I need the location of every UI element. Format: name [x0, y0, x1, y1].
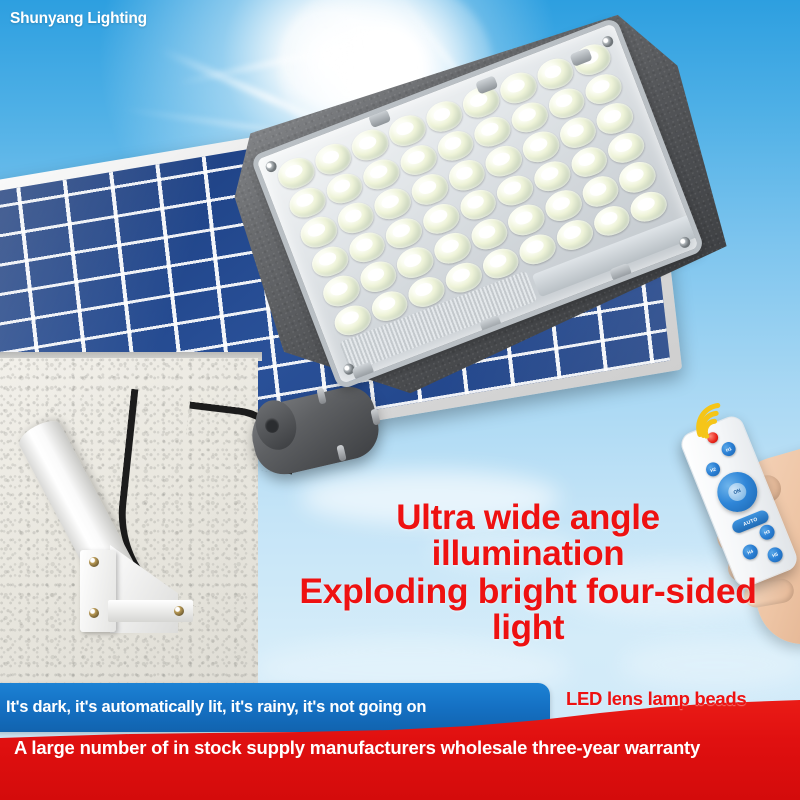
led-lens-lamp-beads-label: LED lens lamp beads [566, 688, 800, 710]
product-banner-image: H1 H2 ON AUTO H3 H4 H5 Ultra wide angle … [0, 0, 800, 800]
headline-line-2: illumination [228, 536, 800, 572]
bolt-icon [89, 557, 99, 567]
brand-watermark: Shunyang Lighting [10, 10, 147, 28]
headline-line-4: light [228, 610, 800, 646]
cloud [620, 640, 800, 690]
remote-button-h2[interactable]: H2 [704, 460, 722, 478]
headline-block: Ultra wide angle illumination Exploding … [228, 500, 800, 646]
warranty-banner-text: A large number of in stock supply manufa… [14, 736, 786, 759]
feature-banner-blue: It's dark, it's automatically lit, it's … [0, 683, 550, 732]
bracket-base-plate [108, 600, 193, 622]
remote-button-h1[interactable]: H1 [719, 440, 737, 458]
feature-banner-blue-text: It's dark, it's automatically lit, it's … [0, 698, 426, 717]
headline-line-3: Exploding bright four-sided [228, 573, 800, 610]
headline-line-1: Ultra wide angle [228, 500, 800, 536]
bolt-icon [174, 606, 184, 616]
bolt-icon [89, 608, 99, 618]
